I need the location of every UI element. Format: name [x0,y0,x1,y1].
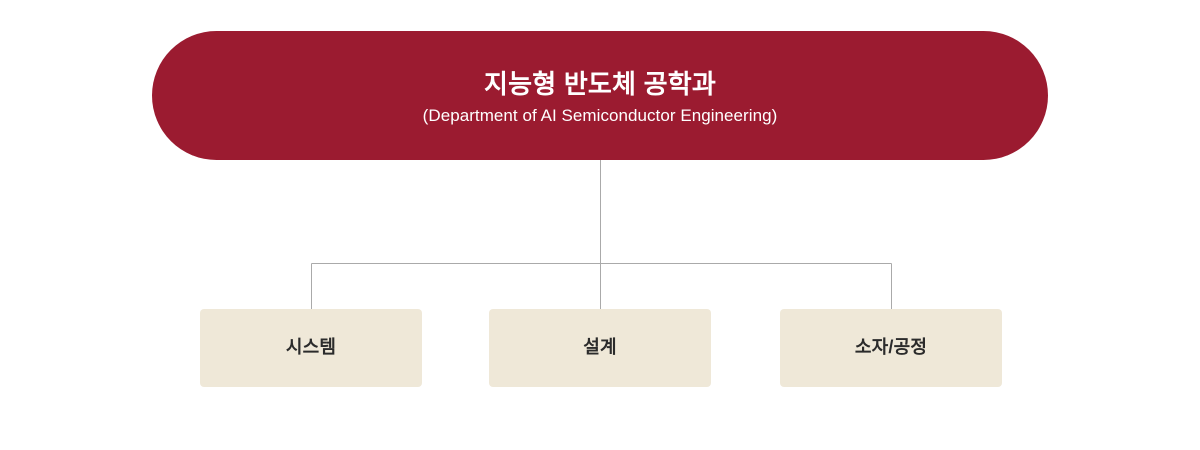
child-node-label: 소자/공정 [855,337,927,359]
child-node-label: 시스템 [286,337,336,359]
child-node-system[interactable]: 시스템 [200,309,422,387]
root-node-department[interactable]: 지능형 반도체 공학과 (Department of AI Semiconduc… [152,31,1048,160]
child-node-design[interactable]: 설계 [489,309,711,387]
org-chart-canvas: 지능형 반도체 공학과 (Department of AI Semiconduc… [0,0,1200,450]
child-node-label: 설계 [583,337,617,359]
root-title-english: (Department of AI Semiconductor Engineer… [423,106,778,126]
root-title-korean: 지능형 반도체 공학과 [484,69,716,100]
child-node-device-process[interactable]: 소자/공정 [780,309,1002,387]
